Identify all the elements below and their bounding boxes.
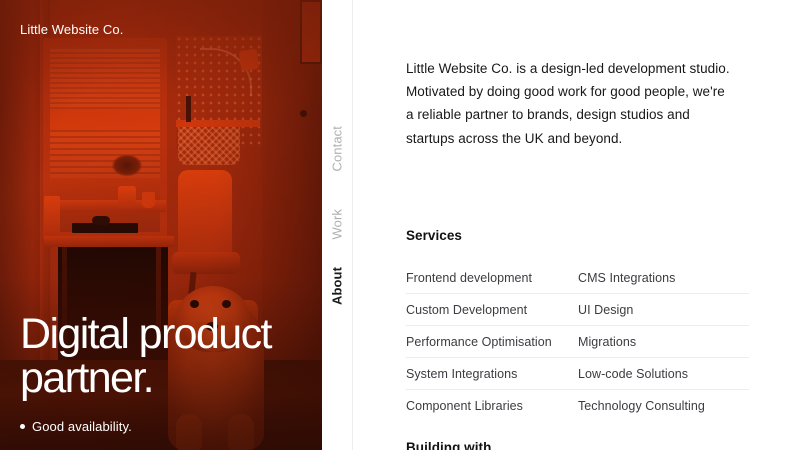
hero-headline: Digital product partner.	[20, 313, 320, 401]
table-row: System Integrations Low-code Solutions	[406, 357, 749, 389]
service-cell: Frontend development	[406, 262, 578, 294]
table-row: Component Libraries Technology Consultin…	[406, 389, 749, 421]
content-panel: Little Website Co. is a design-led devel…	[353, 0, 800, 450]
table-row: Performance Optimisation Migrations	[406, 325, 749, 357]
nav-item-about[interactable]: About	[330, 267, 345, 305]
building-with-heading: Building with	[406, 440, 491, 450]
services-heading: Services	[406, 228, 748, 243]
service-cell: Performance Optimisation	[406, 325, 578, 357]
nav-item-work[interactable]: Work	[330, 209, 345, 240]
service-cell: System Integrations	[406, 357, 578, 389]
nav-item-contact[interactable]: Contact	[330, 126, 345, 172]
table-row: Custom Development UI Design	[406, 293, 749, 325]
service-cell: Migrations	[578, 325, 749, 357]
bullet-dot-icon	[20, 424, 25, 429]
service-cell: Custom Development	[406, 293, 578, 325]
site-logo[interactable]: Little Website Co.	[20, 22, 123, 37]
service-cell: CMS Integrations	[578, 262, 749, 294]
vertical-nav: Contact Work About	[322, 0, 353, 450]
availability-badge: Good availability.	[20, 419, 320, 434]
service-cell: Technology Consulting	[578, 389, 749, 421]
table-row: Frontend development CMS Integrations	[406, 262, 749, 294]
services-table: Frontend development CMS Integrations Cu…	[406, 262, 749, 421]
hero-text-block: Digital product partner. Good availabili…	[20, 313, 320, 434]
hero-panel: Little Website Co. Digital product partn…	[0, 0, 322, 450]
service-cell: UI Design	[578, 293, 749, 325]
service-cell: Component Libraries	[406, 389, 578, 421]
page-root: Little Website Co. Digital product partn…	[0, 0, 800, 450]
intro-paragraph: Little Website Co. is a design-led devel…	[406, 57, 731, 150]
availability-label: Good availability.	[32, 419, 132, 434]
service-cell: Low-code Solutions	[578, 357, 749, 389]
